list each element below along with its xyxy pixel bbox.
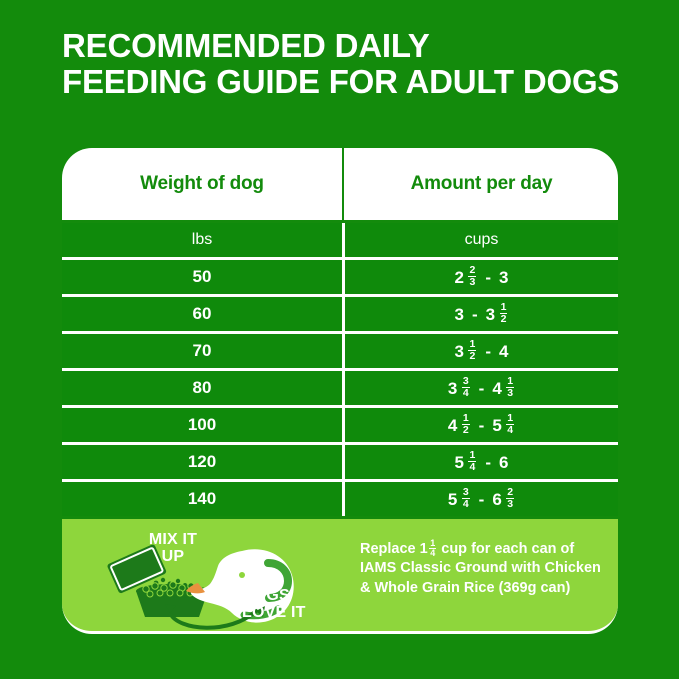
table-row: 70 3 12 - 4 (62, 334, 618, 368)
amount-from-fraction: 34 (462, 376, 470, 399)
cell-amount: 3 12 - 4 (345, 334, 618, 368)
cell-weight: 70 (62, 334, 342, 368)
mix-it-up-line-1: MIX IT (149, 531, 197, 548)
note-fraction: 14 (429, 539, 436, 559)
table-row: 80 3 34 - 4 13 (62, 371, 618, 405)
table-row-units: lbs cups (62, 223, 618, 257)
cell-amount: 2 23 - 3 (345, 260, 618, 294)
amount-to-whole: 5 (492, 417, 501, 434)
amount-to-fraction: 12 (500, 302, 508, 325)
page-title-line-2: FEEDING GUIDE FOR ADULT DOGS (62, 64, 662, 100)
amount-from-fraction: 14 (468, 450, 476, 473)
amount-to-fraction: 23 (506, 487, 514, 510)
amount-to-whole: 6 (499, 454, 508, 471)
table-row: 140 5 34 - 6 23 (62, 482, 618, 516)
amount-value: 5 34 - 6 23 (448, 487, 515, 510)
cell-weight: 120 (62, 445, 342, 479)
amount-to-whole: 4 (499, 343, 508, 360)
dogs-love-it-line-2: LOVE IT (242, 604, 306, 621)
mix-it-up-panel: MIX IT UP DOGS LOVE IT Replace 114 cup f… (62, 519, 618, 634)
page-title: RECOMMENDED DAILY FEEDING GUIDE FOR ADUL… (62, 28, 662, 100)
table-body: lbs cups 50 2 23 - 3 60 (62, 223, 618, 516)
column-header-weight: Weight of dog (62, 148, 342, 220)
amount-to-whole: 3 (499, 269, 508, 286)
feeding-guide-page: RECOMMENDED DAILY FEEDING GUIDE FOR ADUL… (0, 0, 679, 679)
table-row: 60 3 - 3 12 (62, 297, 618, 331)
amount-value: 5 14 - 6 (455, 450, 509, 473)
cell-weight: 100 (62, 408, 342, 442)
table-row: 100 4 12 - 5 14 (62, 408, 618, 442)
cell-weight: 50 (62, 260, 342, 294)
unit-amount: cups (345, 223, 618, 257)
cell-weight: 80 (62, 371, 342, 405)
amount-from-whole: 4 (448, 417, 457, 434)
amount-to-whole: 4 (492, 380, 501, 397)
amount-to-fraction: 13 (506, 376, 514, 399)
cell-weight: 60 (62, 297, 342, 331)
range-dash: - (480, 269, 496, 286)
dogs-love-it-label: DOGS LOVE IT (242, 587, 342, 621)
table-header: Weight of dog Amount per day (62, 148, 618, 220)
mix-it-up-label: MIX IT UP (128, 531, 218, 565)
cell-weight: 140 (62, 482, 342, 516)
mix-it-up-line-2: UP (162, 548, 185, 565)
amount-from-whole: 5 (455, 454, 464, 471)
column-header-amount: Amount per day (345, 148, 618, 220)
amount-from-fraction: 12 (468, 339, 476, 362)
unit-weight: lbs (62, 223, 342, 257)
replacement-note: Replace 114 cup for each can of IAMS Cla… (360, 539, 605, 598)
amount-to-fraction: 14 (506, 413, 514, 436)
amount-to-whole: 3 (486, 306, 495, 323)
dogs-love-it-line-1: DOGS (242, 587, 290, 604)
header-column-divider (342, 148, 344, 220)
range-dash: - (474, 380, 490, 397)
amount-from-fraction: 34 (462, 487, 470, 510)
amount-from-whole: 3 (455, 306, 464, 323)
amount-value: 3 - 3 12 (455, 302, 509, 325)
amount-value: 2 23 - 3 (455, 265, 509, 288)
page-title-line-1: RECOMMENDED DAILY (62, 28, 662, 64)
amount-from-whole: 5 (448, 491, 457, 508)
amount-from-whole: 3 (455, 343, 464, 360)
feeding-table-card: Weight of dog Amount per day lbs cups 50… (62, 148, 618, 632)
range-dash: - (474, 491, 490, 508)
amount-value: 3 12 - 4 (455, 339, 509, 362)
cell-amount: 3 34 - 4 13 (345, 371, 618, 405)
cell-amount: 5 34 - 6 23 (345, 482, 618, 516)
range-dash: - (480, 454, 496, 471)
mix-it-up-graphic: MIX IT UP DOGS LOVE IT (92, 523, 342, 633)
range-dash: - (474, 417, 490, 434)
cell-amount: 5 14 - 6 (345, 445, 618, 479)
cell-amount: 3 - 3 12 (345, 297, 618, 331)
amount-value: 3 34 - 4 13 (448, 376, 515, 399)
note-prefix: Replace 1 (360, 541, 428, 557)
range-dash: - (467, 306, 483, 323)
amount-from-fraction: 12 (462, 413, 470, 436)
table-row: 120 5 14 - 6 (62, 445, 618, 479)
amount-from-whole: 3 (448, 380, 457, 397)
amount-from-whole: 2 (455, 269, 464, 286)
amount-value: 4 12 - 5 14 (448, 413, 515, 436)
range-dash: - (480, 343, 496, 360)
cell-amount: 4 12 - 5 14 (345, 408, 618, 442)
table-row: 50 2 23 - 3 (62, 260, 618, 294)
amount-from-fraction: 23 (468, 265, 476, 288)
amount-to-whole: 6 (492, 491, 501, 508)
